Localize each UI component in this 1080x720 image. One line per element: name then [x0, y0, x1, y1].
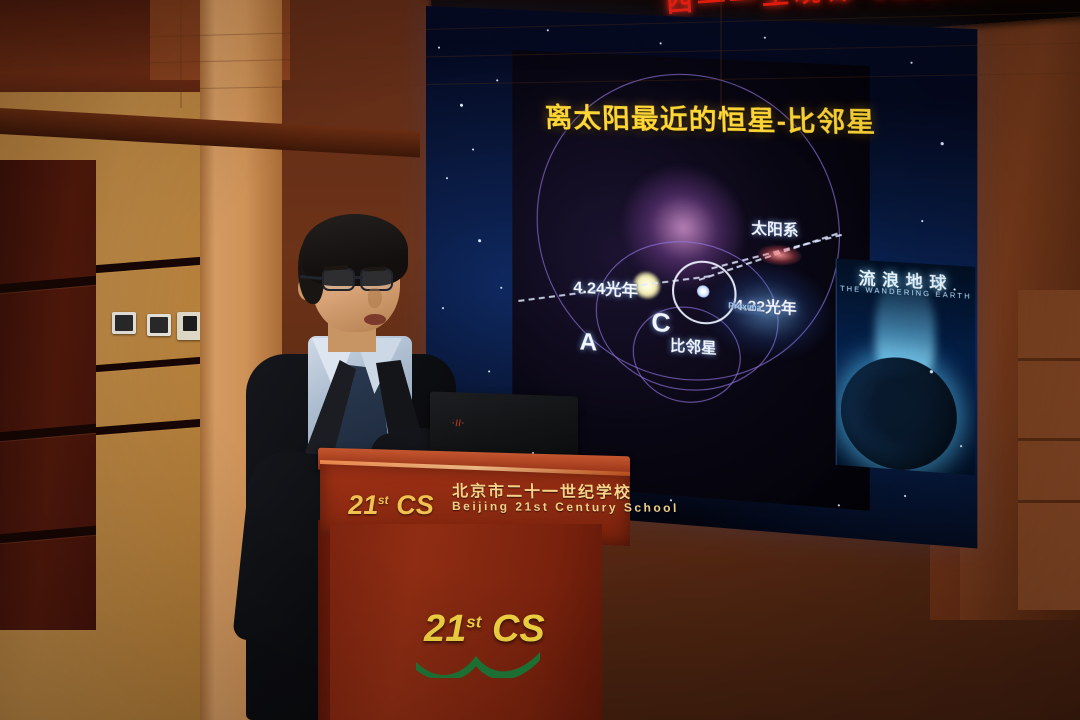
eyeglasses-lens-left	[322, 268, 355, 291]
slide-title: 离太阳最近的恒星-比邻星	[544, 95, 877, 140]
label-distance-left: 4.24光年	[573, 273, 638, 301]
label-proxima-cn: 比邻星	[670, 334, 717, 359]
lecture-hall-photo: 西——王晓锋《恒星的一生》 离太阳最近的恒星-比邻星 太阳系 4.24光年 4.…	[0, 0, 1080, 720]
poster-earth	[841, 354, 957, 474]
speaker-mouth	[364, 314, 386, 325]
right-wall-groove	[1018, 500, 1080, 503]
podium-plate-logo-sup: st	[378, 493, 389, 507]
shelf-groove	[0, 526, 96, 543]
wall-switch-plate-1[interactable]	[112, 312, 136, 334]
shelf-groove	[0, 424, 96, 441]
label-star-c: C	[651, 306, 670, 339]
right-wall-panel	[1018, 290, 1080, 610]
eyeglasses-bridge	[353, 276, 363, 279]
podium-plate-logo: 21st CS	[347, 490, 434, 521]
wall-control-panel-face	[183, 316, 197, 331]
wall-switch-face	[115, 315, 133, 331]
label-star-a: A	[579, 328, 597, 358]
podium-plate-logo-cs: CS	[396, 490, 435, 520]
podium-plate-logo-number: 21	[347, 490, 378, 520]
laptop-brand-logo: ·//·	[452, 418, 465, 428]
label-solar-system: 太阳系	[751, 217, 798, 241]
speaker-eyebrow-right	[364, 267, 386, 272]
shelf-groove	[0, 276, 96, 293]
wandering-earth-poster-inset: 流浪地球 THE WANDERING EARTH	[836, 258, 976, 475]
podium-plate-school-en: Beijing 21st Century School	[452, 499, 679, 515]
podium-body-logo-sup: st	[466, 612, 481, 631]
right-wall-groove	[1018, 358, 1080, 361]
proxima-dot	[697, 285, 709, 298]
left-wall-recessed-alcove	[0, 160, 96, 630]
wall-switch-face	[150, 317, 168, 333]
right-wall-groove	[1018, 438, 1080, 441]
wall-switch-plate-2[interactable]	[147, 314, 171, 336]
podium-book-swoosh-icon	[414, 644, 542, 678]
